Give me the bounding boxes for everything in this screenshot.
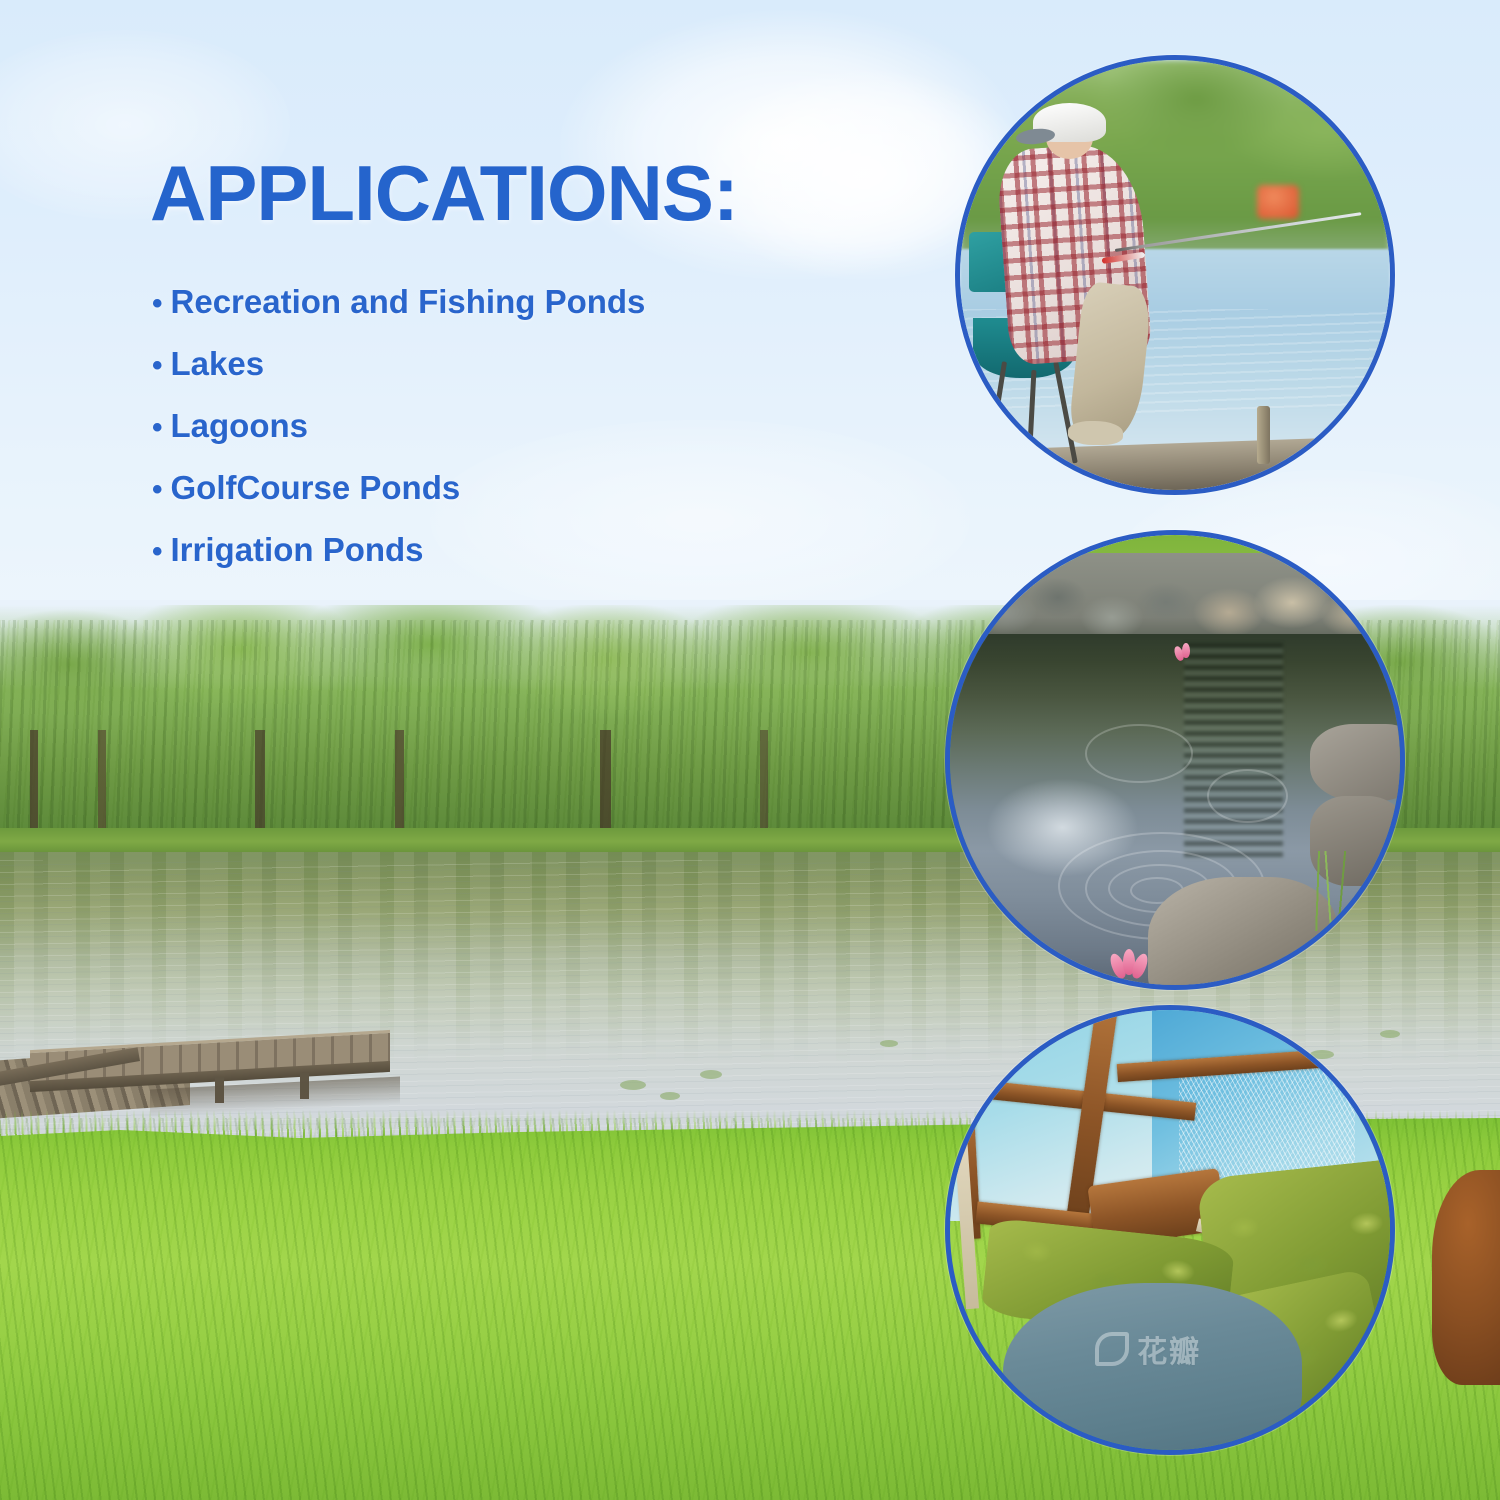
list-item-label: Irrigation Ponds [171,520,424,580]
list-item-label: Lakes [171,334,265,394]
applications-marketing-image: 花瓣 APPLICATIONS: • Recreation and Fishin… [0,0,1500,1500]
list-item-label: GolfCourse Ponds [171,458,461,518]
list-item: • Irrigation Ponds [152,520,912,582]
bullet-dot-icon: • [152,522,163,582]
list-item-label: Lagoons [171,396,309,456]
list-item-label: Recreation and Fishing Ponds [171,272,646,332]
page-title: APPLICATIONS: [150,148,738,239]
bullet-dot-icon: • [152,336,163,396]
bullet-dot-icon: • [152,398,163,458]
list-item: • Lakes [152,334,912,396]
list-item: • Lagoons [152,396,912,458]
list-item: • GolfCourse Ponds [152,458,912,520]
applications-list: • Recreation and Fishing Ponds • Lakes •… [152,272,912,582]
list-item: • Recreation and Fishing Ponds [152,272,912,334]
bullet-dot-icon: • [152,274,163,334]
text-content: APPLICATIONS: • Recreation and Fishing P… [0,0,1500,1500]
bullet-dot-icon: • [152,460,163,520]
